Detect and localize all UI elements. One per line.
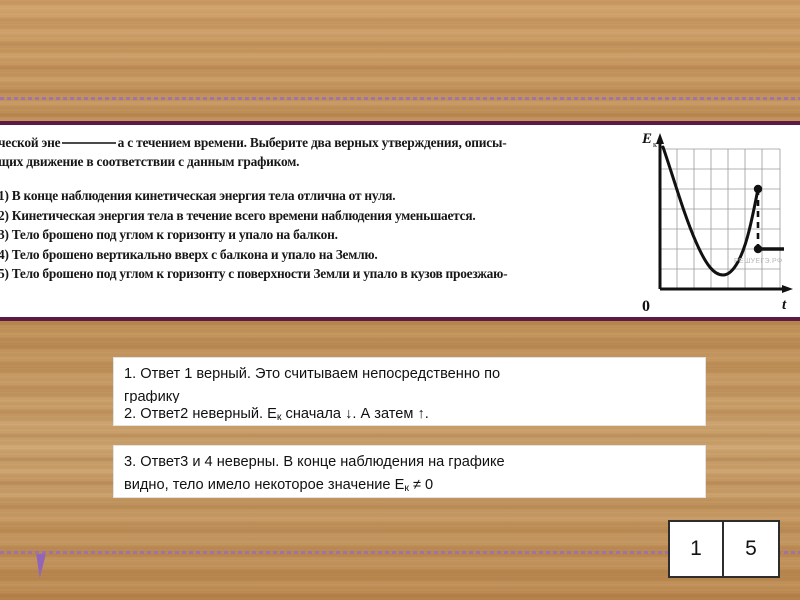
answer-cell-2: 5 bbox=[724, 522, 778, 576]
statement-item-2: 2) Кинетическая энергия тела в течение в… bbox=[0, 206, 634, 226]
note-2-line-2: видно, тело имело некоторое значение Eк … bbox=[124, 474, 697, 498]
pointer-triangle-icon bbox=[36, 552, 57, 578]
answer-cell-1: 1 bbox=[670, 522, 724, 576]
explanation-note-2: 3. Ответ3 и 4 неверны. В конце наблюдени… bbox=[113, 445, 706, 498]
lead-text-erased: ргии тела bbox=[60, 135, 117, 150]
task-content-panel: ческой энергии телаа с течением времени.… bbox=[0, 121, 800, 321]
note-2-line-2-prefix: видно, тело имело некоторое значение E bbox=[124, 477, 404, 493]
origin-label: 0 bbox=[642, 298, 650, 315]
note-1-line-2-clipped: графику bbox=[124, 386, 697, 403]
upper-endpoint-dot bbox=[754, 185, 762, 193]
decorative-dashed-rule-top bbox=[0, 97, 800, 100]
watermark-label: РЕШУЕГЭ.РФ bbox=[734, 258, 783, 265]
kinetic-energy-graph: E к t 0 РЕШУЕГЭ.РФ bbox=[630, 127, 796, 319]
note-1-line-3-prefix: 2. Ответ2 неверный. E bbox=[124, 406, 277, 422]
task-lead-line-1: ческой энергии телаа с течением времени.… bbox=[0, 133, 634, 152]
note-1-line-1: 1. Ответ 1 верный. Это считываем непосре… bbox=[124, 363, 697, 386]
note-1-line-3-suffix: сначала ↓. А затем ↑. bbox=[281, 406, 428, 422]
slide-canvas: ческой энергии телаа с течением времени.… bbox=[0, 0, 800, 600]
task-statement-block: ческой энергии телаа с течением времени.… bbox=[0, 129, 634, 284]
answer-grid: 1 5 bbox=[668, 520, 780, 578]
explanation-note-1: 1. Ответ 1 верный. Это считываем непосре… bbox=[113, 357, 706, 426]
statement-list: 1) В конце наблюдения кинетическая энерг… bbox=[0, 186, 634, 284]
statement-item-3: 3) Тело брошено под углом к горизонту и … bbox=[0, 225, 634, 245]
statement-item-4: 4) Тело брошено вертикально вверх с балк… bbox=[0, 245, 634, 265]
statement-item-1: 1) В конце наблюдения кинетическая энерг… bbox=[0, 186, 634, 206]
note-2-line-1: 3. Ответ3 и 4 неверны. В конце наблюдени… bbox=[124, 451, 697, 474]
x-axis-label: t bbox=[782, 297, 787, 313]
x-axis-arrowhead bbox=[782, 285, 793, 293]
note-2-line-2-suffix: ≠ 0 bbox=[409, 477, 433, 493]
lead-text-b: а с течением времени. Выберите два верны… bbox=[118, 135, 507, 150]
y-axis-arrowhead bbox=[656, 133, 664, 144]
lower-endpoint-dot bbox=[754, 245, 762, 253]
graph-gridlines bbox=[660, 149, 780, 289]
y-axis-label: E bbox=[641, 131, 652, 147]
lead-text-a: ческой эне bbox=[0, 135, 60, 150]
task-lead-line-2: щих движение в соответствии с данным гра… bbox=[0, 152, 634, 171]
y-axis-label-subscript: к bbox=[653, 140, 657, 149]
statement-item-5: 5) Тело брошено под углом к горизонту с … bbox=[0, 264, 634, 284]
note-1-line-3: 2. Ответ2 неверный. Eк сначала ↓. А зате… bbox=[124, 403, 697, 426]
graph-svg: E к t 0 bbox=[630, 127, 796, 319]
